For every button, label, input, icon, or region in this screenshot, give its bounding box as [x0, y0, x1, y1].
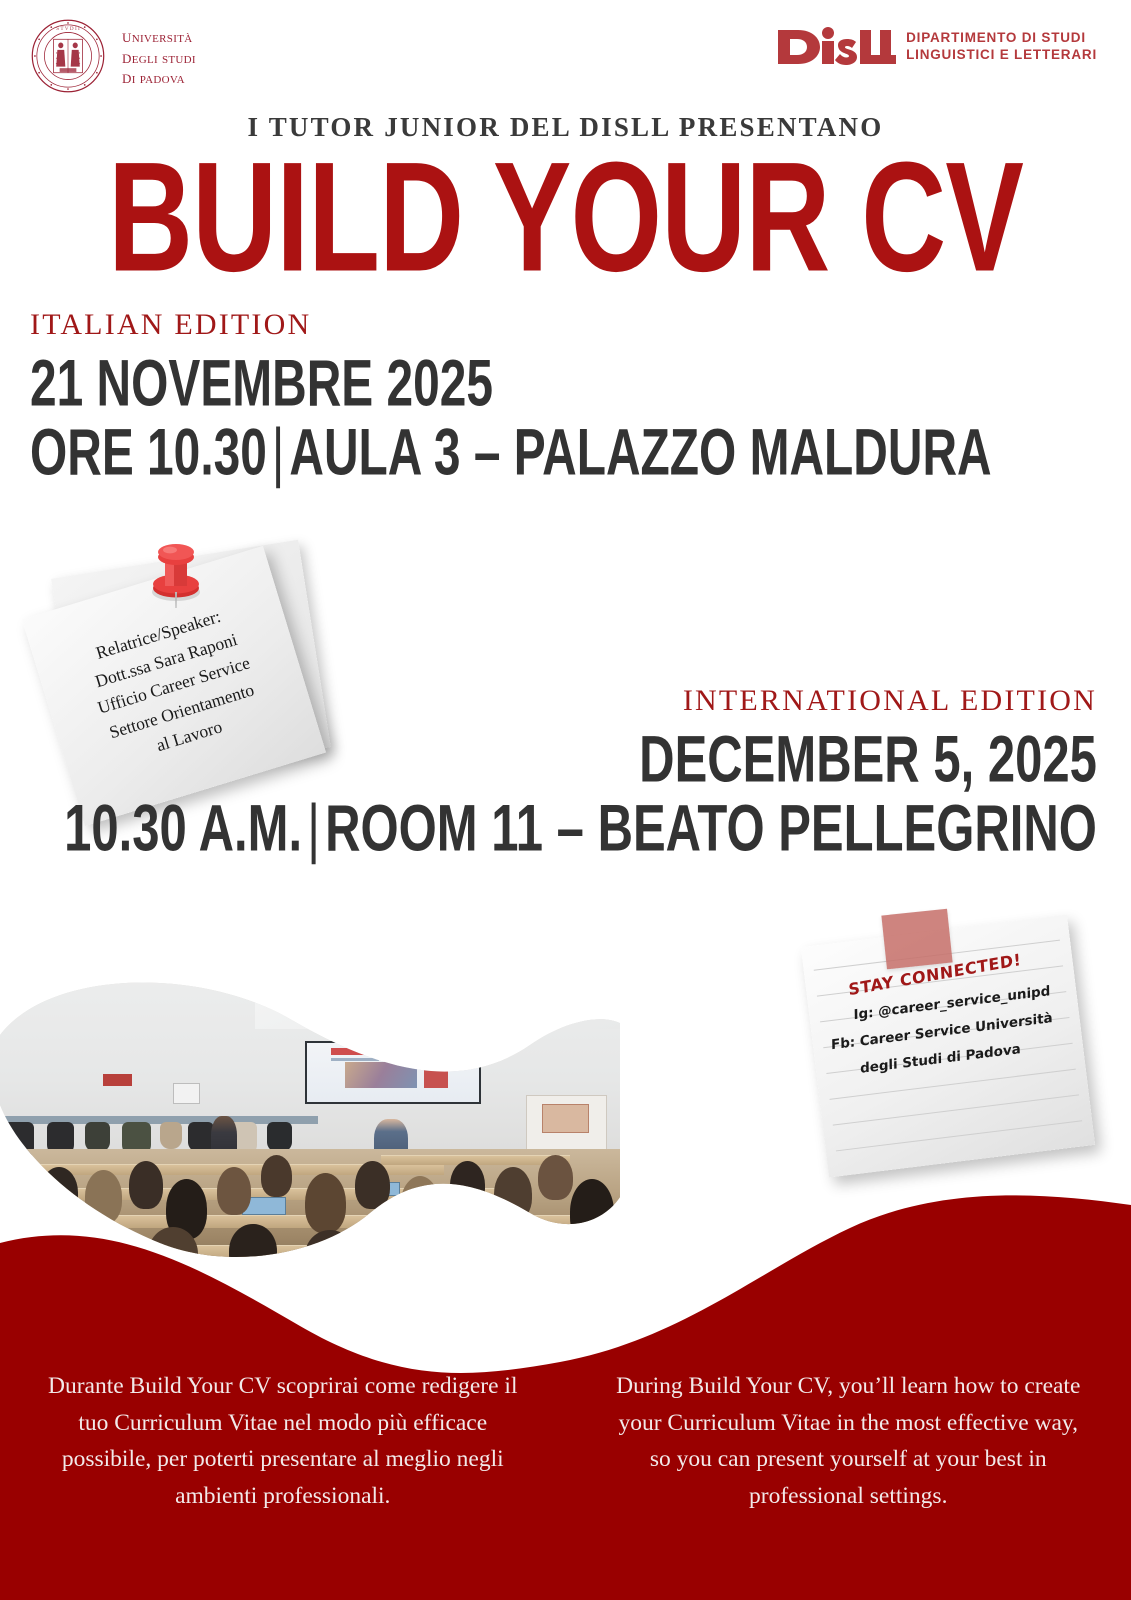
footer-english-paragraph: During Build Your CV, you’ll learn how t… [566, 1368, 1131, 1515]
international-venue: ROOM 11 – BEATO PELLEGRINO [325, 791, 1097, 865]
disll-line-1: DIPARTIMENTO DI STUDI [906, 30, 1097, 47]
svg-text:S T V D I I: S T V D I I [56, 26, 80, 32]
international-edition-label: INTERNATIONAL EDITION [0, 684, 1097, 718]
italian-venue: AULA 3 – PALAZZO MALDURA [289, 415, 991, 489]
italian-time: ORE 10.30 [30, 415, 267, 489]
unipd-wordmark: Università degli Studi di Padova [122, 24, 196, 88]
footer-paragraphs: Durante Build Your CV scoprirai come red… [0, 1368, 1131, 1515]
tape-strip-icon [881, 909, 952, 970]
disll-wordmark: DIPARTIMENTO DI STUDI LINGUISTICI E LETT… [906, 30, 1097, 64]
unipd-line-3: di Padova [122, 67, 196, 88]
stay-connected-note: STAY CONNECTED! Ig: @career_service_unip… [806, 912, 1106, 1184]
university-seal-icon: S T V D I I [30, 18, 106, 94]
unipd-line-1: Università [122, 26, 196, 47]
international-edition-time-venue: 10.30 A.M.|ROOM 11 – BEATO PELLEGRINO [64, 796, 1097, 862]
page-title: BUILD YOUR CV [45, 140, 1086, 296]
footer-italian-paragraph: Durante Build Your CV scoprirai come red… [0, 1368, 566, 1515]
disll-logo: DIPARTIMENTO DI STUDI LINGUISTICI E LETT… [776, 24, 1097, 70]
poster-canvas: S T V D I I Università degli Studi di Pa… [0, 0, 1131, 1600]
disll-mark-icon [776, 24, 896, 70]
red-pushpin-icon [140, 530, 212, 610]
unipd-line-2: degli Studi [122, 47, 196, 68]
italian-edition-label: ITALIAN EDITION [30, 308, 1131, 342]
international-edition-block: INTERNATIONAL EDITION DECEMBER 5, 2025 1… [0, 684, 1097, 853]
italian-separator: | [267, 415, 290, 489]
international-time: 10.30 A.M. [64, 791, 302, 865]
italian-edition-block: ITALIAN EDITION 21 NOVEMBRE 2025 ORE 10.… [30, 308, 1131, 477]
italian-edition-time-venue: ORE 10.30|AULA 3 – PALAZZO MALDURA [30, 420, 992, 486]
international-edition-date: DECEMBER 5, 2025 [64, 727, 1097, 793]
disll-line-2: LINGUISTICI E LETTERARI [906, 47, 1097, 64]
international-separator: | [302, 791, 325, 865]
unipd-logo: S T V D I I Università degli Studi di Pa… [30, 18, 196, 94]
italian-edition-date: 21 NOVEMBRE 2025 [30, 351, 992, 417]
